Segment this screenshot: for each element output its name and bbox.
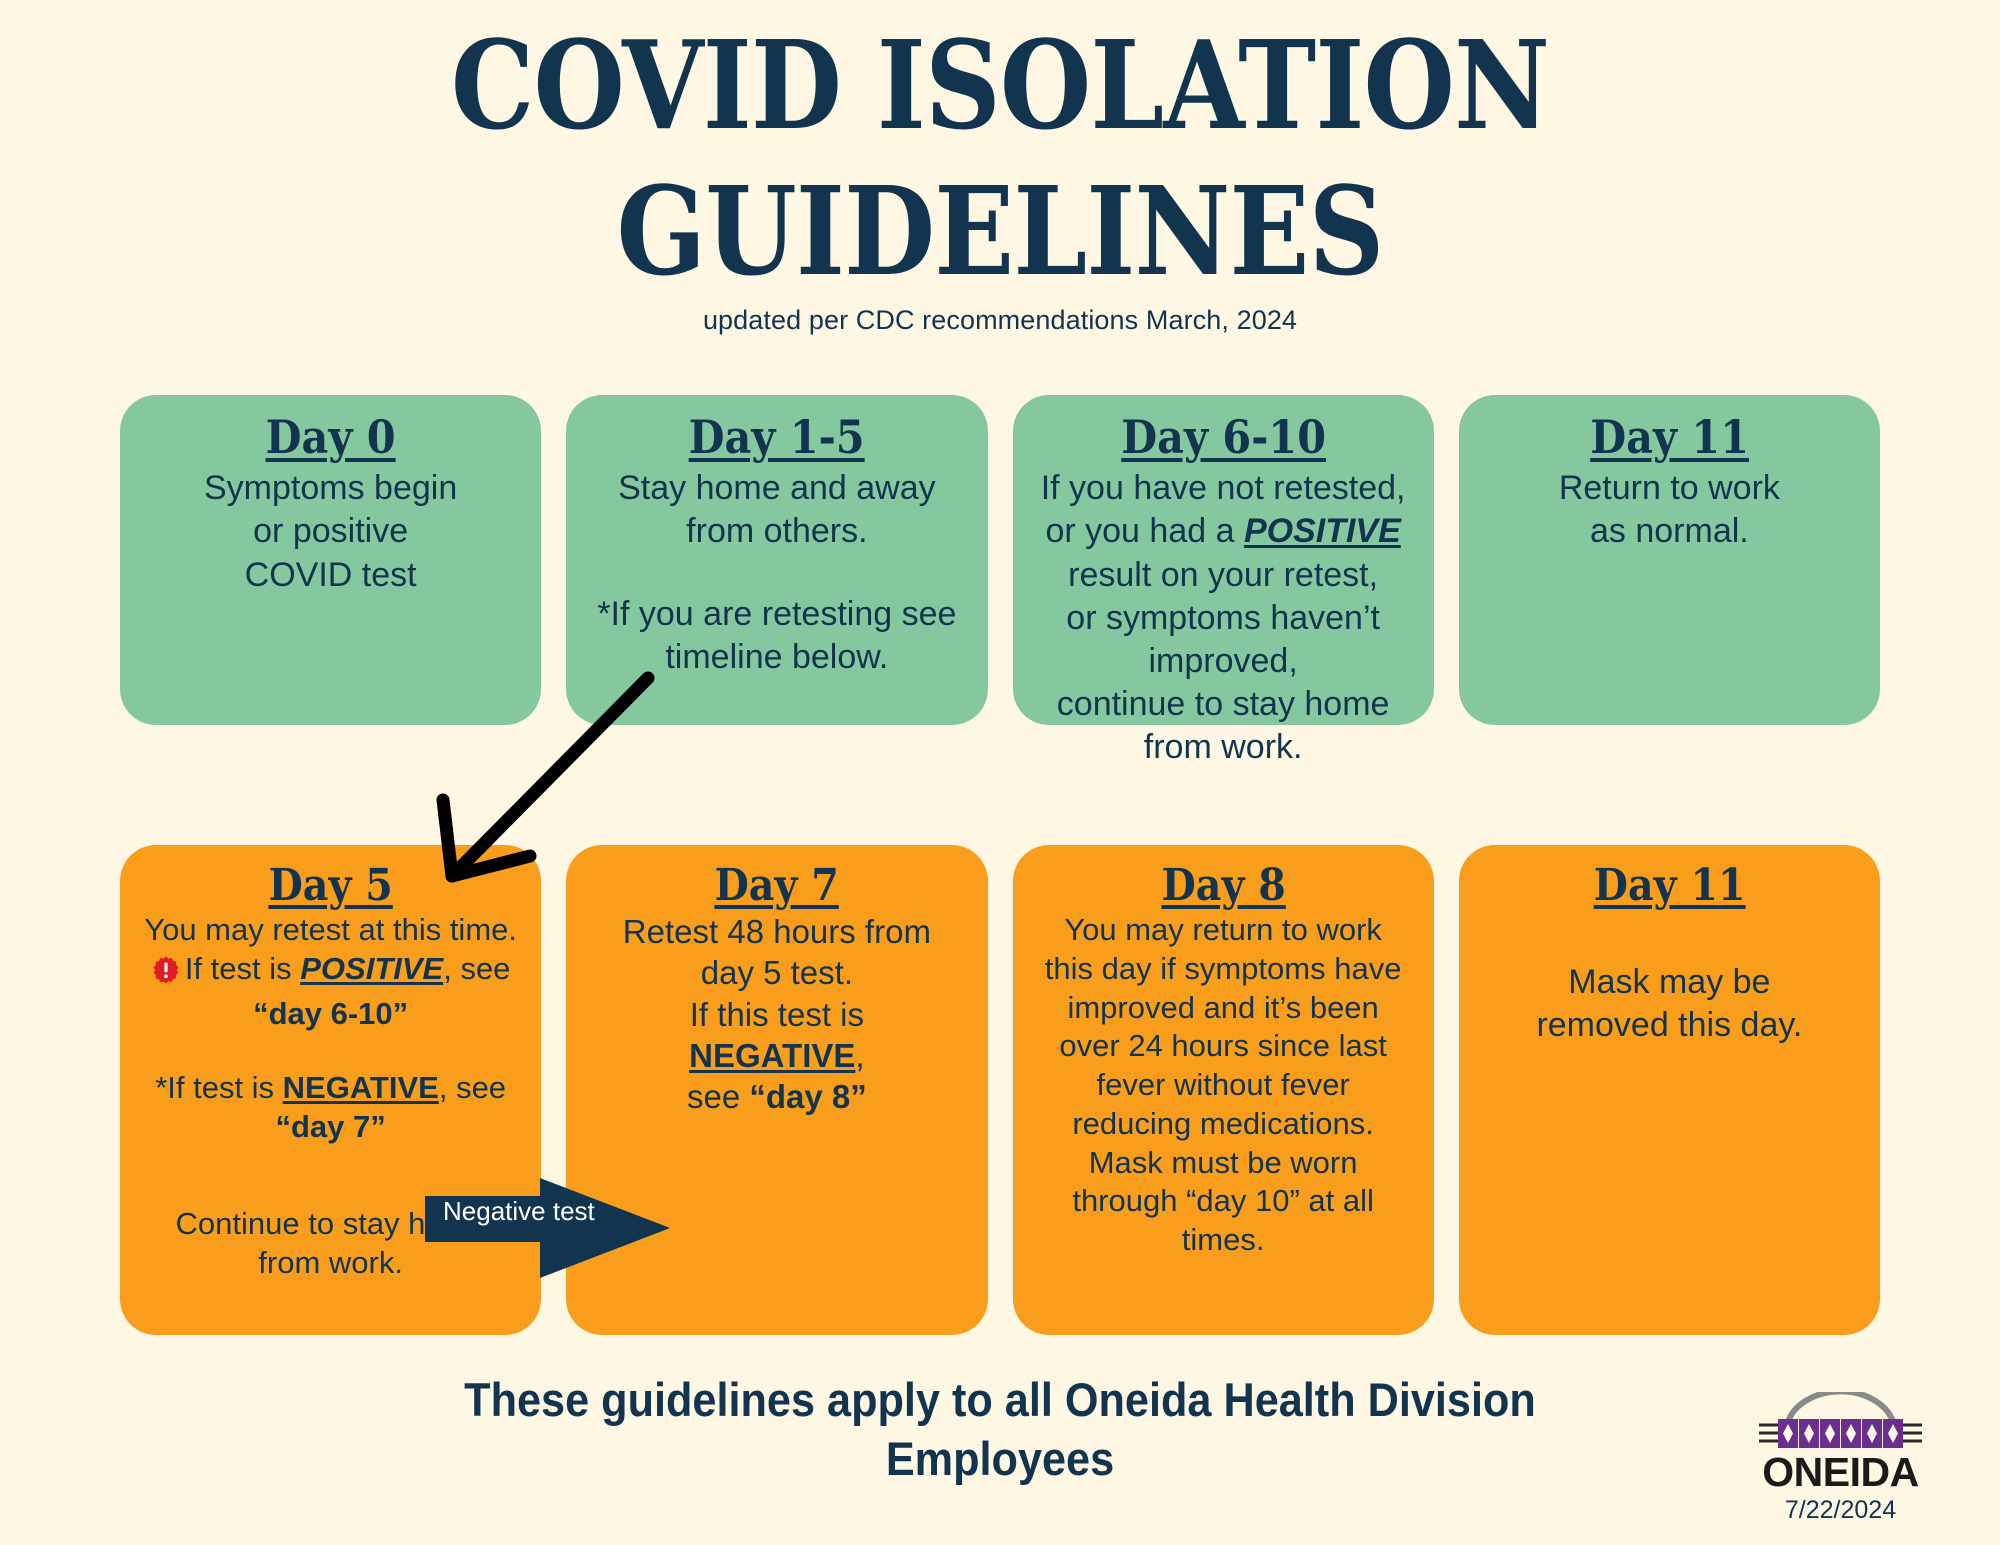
- orange-card-row: Day 5 You may retest at this time. If te…: [0, 845, 2000, 1335]
- text-run: improved,: [1148, 642, 1297, 680]
- card-line: reducing medications.: [1031, 1105, 1416, 1144]
- card-body-day-1-5: Stay home and away from others. *If you …: [584, 467, 969, 679]
- text-run: *If test is: [155, 1070, 282, 1105]
- card-title-day-11-orange: Day 11: [1496, 863, 1843, 909]
- card-title-day-11-green: Day 11: [1496, 413, 1843, 461]
- emphasis-negative: NEGATIVE: [689, 1037, 855, 1074]
- page-title-line-2: GUIDELINES: [140, 172, 1860, 292]
- card-body-day-11-green: Return to work as normal.: [1477, 467, 1862, 553]
- card-day-6-10: Day 6-10 If you have not retested, or yo…: [1013, 395, 1434, 725]
- footer-block: These guidelines apply to all Oneida Hea…: [0, 1370, 2000, 1488]
- text-run: or you had a: [1045, 512, 1243, 550]
- quoted-ref-day-7: “day 7”: [275, 1109, 385, 1144]
- text-run: see: [687, 1078, 749, 1115]
- card-line: as normal.: [1477, 510, 1862, 553]
- card-day-1-5: Day 1-5 Stay home and away from others. …: [566, 395, 987, 725]
- card-line: timeline below.: [584, 636, 969, 679]
- card-body-day-11-orange: Mask may be removed this day.: [1477, 961, 1862, 1046]
- card-line: If this test is: [584, 994, 969, 1035]
- card-line: NEGATIVE,: [584, 1035, 969, 1076]
- text-run: or symptoms haven’t: [1066, 599, 1380, 637]
- card-line: Stay home and away: [584, 467, 969, 510]
- card-line: Mask must be worn: [1031, 1144, 1416, 1183]
- card-body-day-7: Retest 48 hours from day 5 test. If this…: [584, 911, 969, 1117]
- logo-date: 7/22/2024: [1723, 1498, 1958, 1523]
- page-title-line-1: COVID ISOLATION: [140, 26, 1860, 146]
- card-line: day 5 test.: [584, 952, 969, 993]
- negative-test-arrow-icon: [425, 1178, 670, 1278]
- card-title-day-7: Day 7: [604, 863, 951, 909]
- oneida-wampum-belt-logo-icon: [1753, 1392, 1928, 1454]
- card-line: from others.: [584, 510, 969, 553]
- text-run: If you have not retested,: [1041, 469, 1406, 507]
- card-title-day-1-5: Day 1-5: [604, 413, 951, 461]
- text-run: If test is: [185, 951, 300, 986]
- text-run: from work.: [1144, 728, 1303, 766]
- card-title-day-5: Day 5: [157, 863, 504, 909]
- emphasis-positive: POSITIVE: [300, 951, 443, 986]
- card-line: removed this day.: [1477, 1004, 1862, 1047]
- oneida-wordmark: ONEIDA: [1723, 1452, 1958, 1493]
- card-line: fever without fever: [1031, 1066, 1416, 1105]
- page-subtitle: updated per CDC recommendations March, 2…: [0, 305, 2000, 336]
- card-line: *If test is NEGATIVE, see: [138, 1069, 523, 1108]
- card-title-day-6-10: Day 6-10: [1050, 413, 1397, 461]
- card-line: You may return to work: [1031, 911, 1416, 950]
- card-line: Symptoms begin: [138, 467, 523, 510]
- quoted-ref-day-6-10: “day 6-10”: [253, 996, 408, 1031]
- text-run: , see: [443, 951, 510, 986]
- card-line: or positive: [138, 510, 523, 553]
- card-line: You may retest at this time.: [138, 911, 523, 950]
- quoted-ref-day-8: “day 8”: [749, 1078, 866, 1115]
- card-body-day-0: Symptoms begin or positive COVID test: [138, 467, 523, 597]
- footer-text: These guidelines apply to all Oneida Hea…: [457, 1370, 1543, 1488]
- text-run: result on your retest,: [1068, 556, 1378, 594]
- emphasis-negative: NEGATIVE: [283, 1070, 439, 1105]
- card-line: Retest 48 hours from: [584, 911, 969, 952]
- card-title-day-0: Day 0: [157, 413, 504, 461]
- emphasis-positive: POSITIVE: [1244, 512, 1401, 550]
- card-title-day-8: Day 8: [1050, 863, 1397, 909]
- exclamation-badge-icon: [151, 955, 181, 995]
- page-title-block: COVID ISOLATION GUIDELINES updated per C…: [0, 0, 2000, 336]
- oneida-health-logo: ONEIDA 7/22/2024: [1723, 1392, 1958, 1523]
- text-run: ,: [855, 1037, 864, 1074]
- negative-test-label: Negative test: [443, 1198, 595, 1224]
- card-day-0: Day 0 Symptoms begin or positive COVID t…: [120, 395, 541, 725]
- card-line: “day 7”: [138, 1108, 523, 1147]
- card-line: this day if symptoms have: [1031, 950, 1416, 989]
- card-line: If you have not retested, or you had a P…: [1031, 467, 1416, 769]
- text-run: , see: [439, 1070, 506, 1105]
- card-day-8: Day 8 You may return to work this day if…: [1013, 845, 1434, 1335]
- card-line: over 24 hours since last: [1031, 1027, 1416, 1066]
- card-body-day-8: You may return to work this day if sympt…: [1031, 911, 1416, 1260]
- card-day-11-orange: Day 11 Mask may be removed this day.: [1459, 845, 1880, 1335]
- card-line: improved and it’s been: [1031, 989, 1416, 1028]
- card-line: Return to work: [1477, 467, 1862, 510]
- text-run: continue to stay home: [1057, 685, 1390, 723]
- card-line: times.: [1031, 1221, 1416, 1260]
- card-line: COVID test: [138, 554, 523, 597]
- card-line: “day 6-10”: [138, 995, 523, 1034]
- card-line: through “day 10” at all: [1031, 1182, 1416, 1221]
- card-line: If test is POSITIVE, see: [138, 950, 523, 995]
- card-line: Mask may be: [1477, 961, 1862, 1004]
- green-card-row: Day 0 Symptoms begin or positive COVID t…: [0, 395, 2000, 725]
- card-line: see “day 8”: [584, 1076, 969, 1117]
- card-line: *If you are retesting see: [584, 593, 969, 636]
- card-body-day-6-10: If you have not retested, or you had a P…: [1031, 467, 1416, 769]
- card-day-11-green: Day 11 Return to work as normal.: [1459, 395, 1880, 725]
